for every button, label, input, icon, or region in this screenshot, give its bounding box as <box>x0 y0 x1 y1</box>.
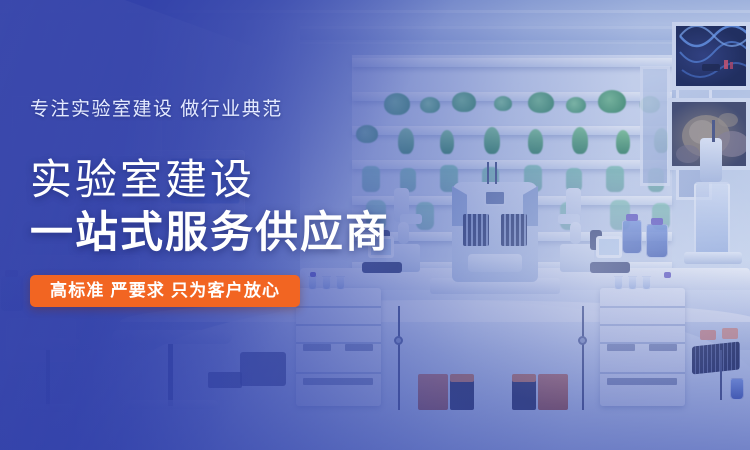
promise-badge[interactable]: 高标准 严要求 只为客户放心 <box>30 275 300 307</box>
hero-banner: 专注实验室建设 做行业典范 实验室建设 一站式服务供应商 高标准 严要求 只为客… <box>0 0 750 450</box>
headline-line-1: 实验室建设 <box>30 159 450 202</box>
headline-line-2: 一站式服务供应商 <box>30 212 450 256</box>
tagline: 专注实验室建设 做行业典范 <box>30 100 450 119</box>
hero-copy-block: 专注实验室建设 做行业典范 实验室建设 一站式服务供应商 高标准 严要求 只为客… <box>30 100 450 307</box>
